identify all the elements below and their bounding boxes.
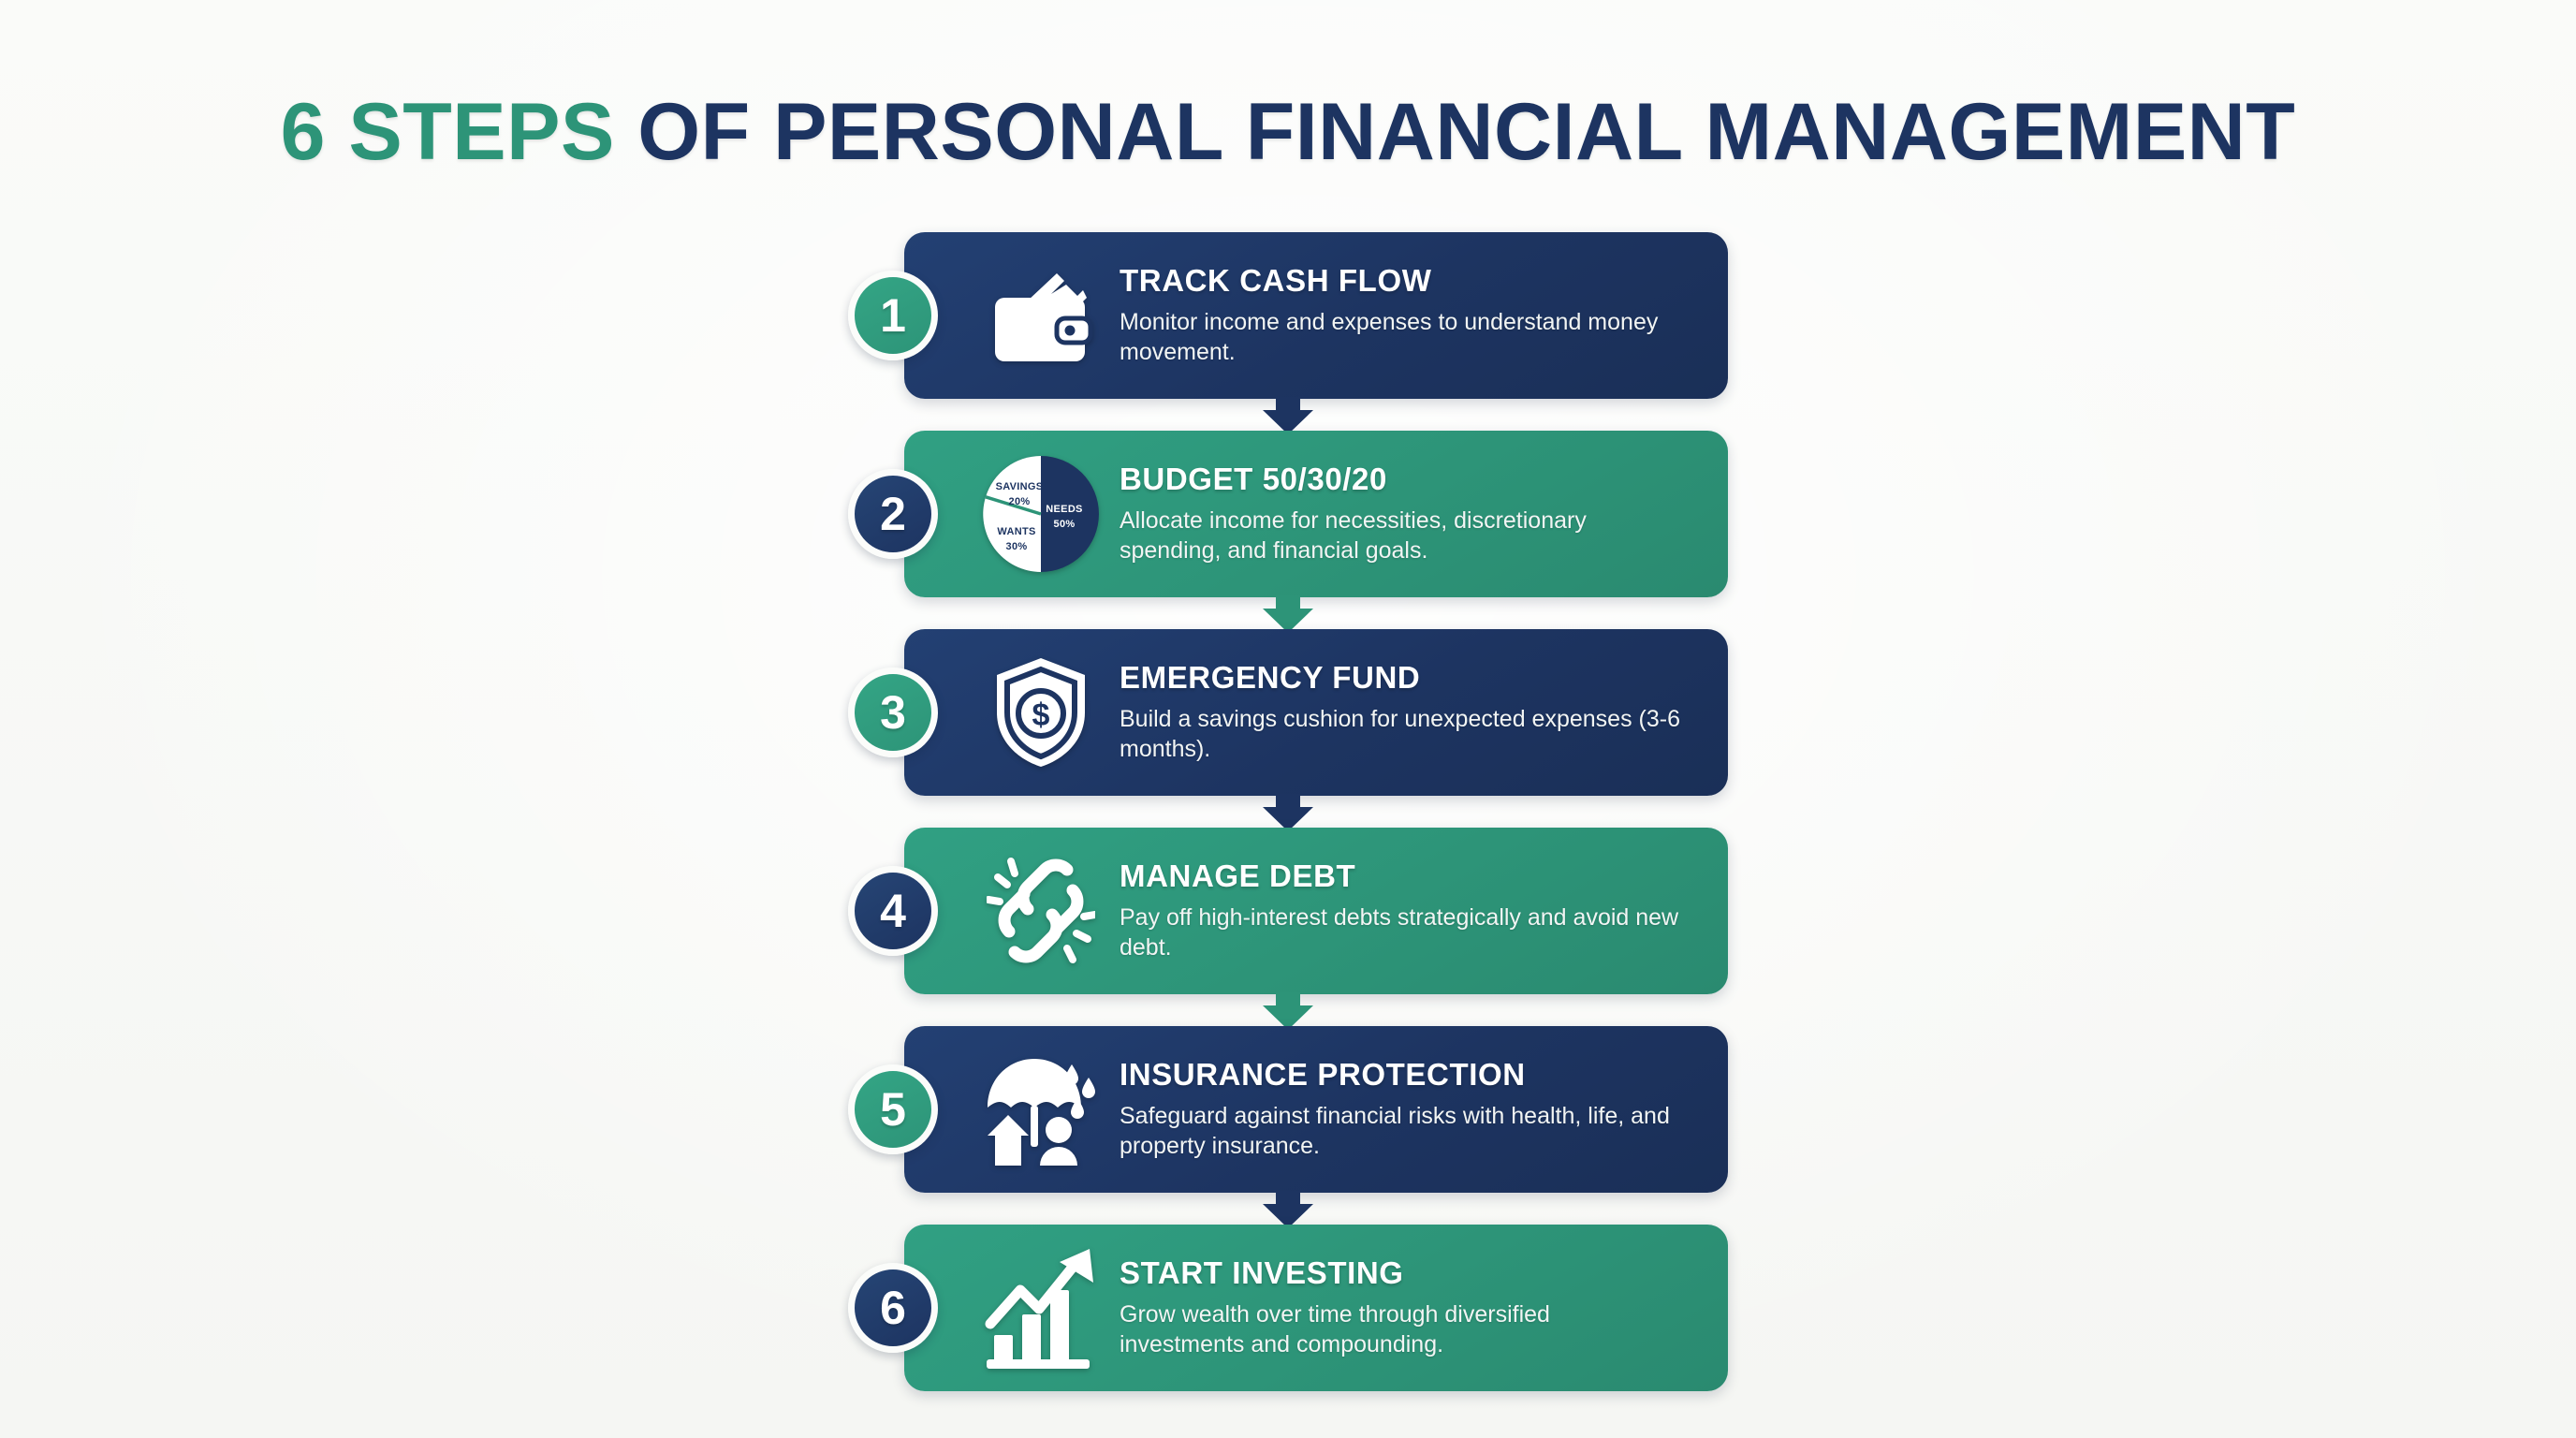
step-card-4[interactable]: MANAGE DEBT Pay off high-interest debts … <box>904 828 1728 994</box>
svg-text:WANTS: WANTS <box>997 526 1035 537</box>
step-card-5[interactable]: INSURANCE PROTECTION Safeguard against f… <box>904 1026 1728 1193</box>
step-title-5: INSURANCE PROTECTION <box>1120 1058 1696 1092</box>
step-row-3[interactable]: $ EMERGENCY FUND Build a savings cushion… <box>848 629 1728 796</box>
connector-4-5 <box>848 994 1728 1026</box>
step-card-1[interactable]: TRACK CASH FLOW Monitor income and expen… <box>904 232 1728 399</box>
step-text-3: EMERGENCY FUND Build a savings cushion f… <box>1120 661 1728 763</box>
svg-text:30%: 30% <box>1006 541 1028 552</box>
arrow-down-icon <box>1263 794 1313 829</box>
step-description-2: Allocate income for necessities, discret… <box>1120 506 1681 565</box>
page-title: 6 STEPS OF PERSONAL FINANCIAL MANAGEMENT <box>131 90 2445 174</box>
step-number-6: 6 <box>880 1284 906 1331</box>
arrow-down-icon <box>1263 1191 1313 1226</box>
connector-3-4 <box>848 796 1728 828</box>
step-text-6: START INVESTING Grow wealth over time th… <box>1120 1256 1728 1358</box>
connector-2-3 <box>848 597 1728 629</box>
svg-text:20%: 20% <box>1009 496 1031 507</box>
connector-1-2 <box>848 399 1728 431</box>
svg-text:SAVINGS: SAVINGS <box>996 481 1044 492</box>
step-description-6: Grow wealth over time through diversifie… <box>1120 1299 1681 1359</box>
step-title-1: TRACK CASH FLOW <box>1120 264 1696 298</box>
umbrella-house-person-icon <box>962 1026 1120 1193</box>
step-row-5[interactable]: INSURANCE PROTECTION Safeguard against f… <box>848 1026 1728 1193</box>
growth-bar-chart-icon <box>962 1225 1120 1391</box>
svg-text:NEEDS: NEEDS <box>1046 504 1082 515</box>
step-card-2[interactable]: NEEDS 50% SAVINGS 20% WANTS 30% BUDGET 5… <box>904 431 1728 597</box>
step-text-5: INSURANCE PROTECTION Safeguard against f… <box>1120 1058 1728 1160</box>
step-description-5: Safeguard against financial risks with h… <box>1120 1101 1681 1161</box>
step-badge-4[interactable]: 4 <box>848 866 938 956</box>
step-badge-2[interactable]: 2 <box>848 469 938 559</box>
step-description-4: Pay off high-interest debts strategicall… <box>1120 902 1681 962</box>
connector-5-6 <box>848 1193 1728 1225</box>
broken-chain-icon <box>962 828 1120 994</box>
step-number-2: 2 <box>880 491 906 537</box>
arrow-down-icon <box>1263 992 1313 1028</box>
page-title-main: OF PERSONAL FINANCIAL MANAGEMENT <box>615 87 2295 177</box>
step-badge-3[interactable]: 3 <box>848 668 938 757</box>
step-row-1[interactable]: TRACK CASH FLOW Monitor income and expen… <box>848 232 1728 399</box>
step-title-4: MANAGE DEBT <box>1120 859 1696 893</box>
svg-text:50%: 50% <box>1054 519 1076 530</box>
step-title-2: BUDGET 50/30/20 <box>1120 462 1696 496</box>
pie-chart-icon: NEEDS 50% SAVINGS 20% WANTS 30% <box>962 431 1120 597</box>
step-description-3: Build a savings cushion for unexpected e… <box>1120 704 1681 764</box>
step-text-1: TRACK CASH FLOW Monitor income and expen… <box>1120 264 1728 366</box>
step-badge-1[interactable]: 1 <box>848 271 938 360</box>
arrow-down-icon <box>1263 595 1313 631</box>
shield-dollar-icon: $ <box>962 629 1120 796</box>
step-card-3[interactable]: $ EMERGENCY FUND Build a savings cushion… <box>904 629 1728 796</box>
step-title-3: EMERGENCY FUND <box>1120 661 1696 695</box>
arrow-down-icon <box>1263 397 1313 433</box>
step-description-1: Monitor income and expenses to understan… <box>1120 307 1681 367</box>
step-row-6[interactable]: START INVESTING Grow wealth over time th… <box>848 1225 1728 1391</box>
step-badge-6[interactable]: 6 <box>848 1263 938 1353</box>
svg-text:$: $ <box>1032 697 1050 733</box>
step-title-6: START INVESTING <box>1120 1256 1696 1290</box>
step-text-4: MANAGE DEBT Pay off high-interest debts … <box>1120 859 1728 961</box>
step-number-1: 1 <box>880 292 906 339</box>
step-row-4[interactable]: MANAGE DEBT Pay off high-interest debts … <box>848 828 1728 994</box>
step-card-6[interactable]: START INVESTING Grow wealth over time th… <box>904 1225 1728 1391</box>
step-row-2[interactable]: NEEDS 50% SAVINGS 20% WANTS 30% BUDGET 5… <box>848 431 1728 597</box>
page-title-accent: 6 STEPS <box>281 87 615 177</box>
step-badge-5[interactable]: 5 <box>848 1064 938 1154</box>
step-number-5: 5 <box>880 1086 906 1133</box>
steps-flow: TRACK CASH FLOW Monitor income and expen… <box>0 232 2576 1391</box>
step-number-4: 4 <box>880 888 906 934</box>
wallet-icon <box>962 232 1120 399</box>
step-text-2: BUDGET 50/30/20 Allocate income for nece… <box>1120 462 1728 565</box>
page-header: 6 STEPS OF PERSONAL FINANCIAL MANAGEMENT <box>0 90 2576 174</box>
step-number-3: 3 <box>880 689 906 736</box>
